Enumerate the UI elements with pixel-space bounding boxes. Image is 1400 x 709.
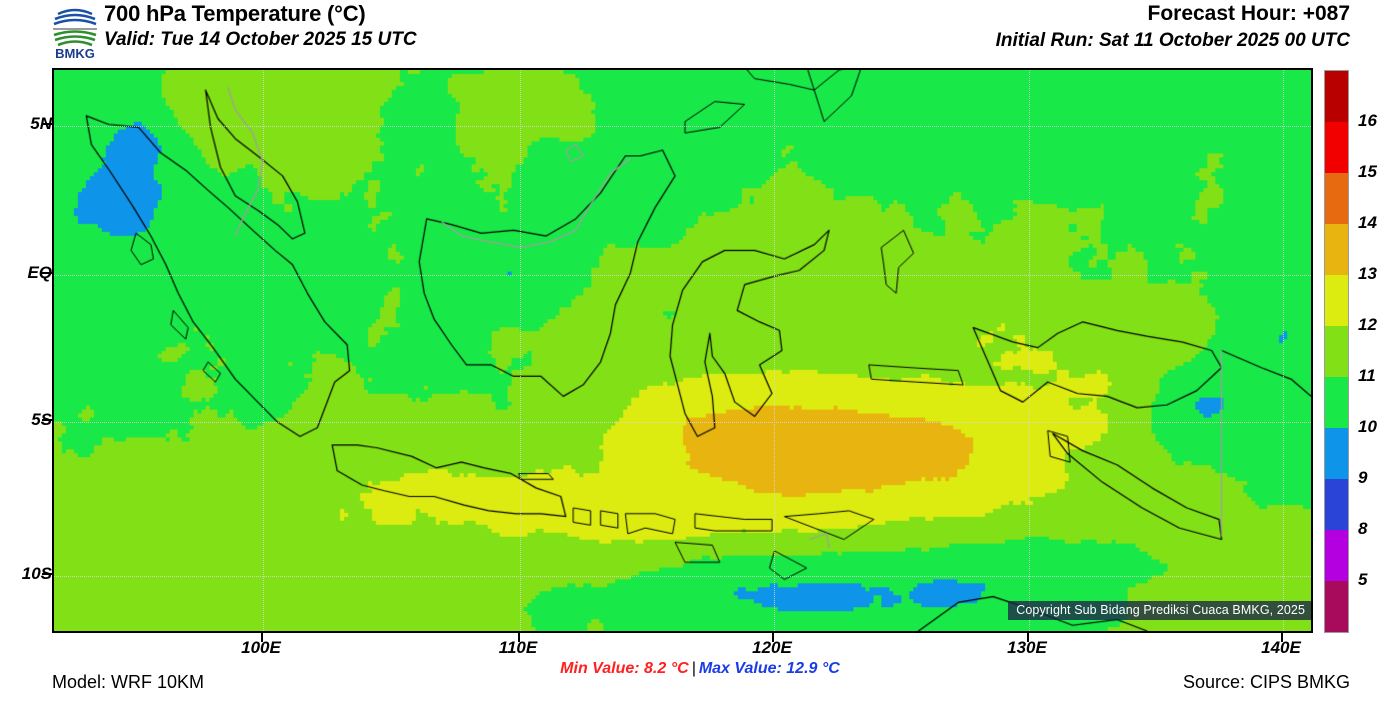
lon-tick-100e [261, 633, 263, 642]
lat-tick-5s [42, 419, 52, 421]
colorbar-label-14: 14 [1358, 213, 1377, 233]
min-max-separator: | [689, 660, 699, 677]
min-max-values: Min Value: 8.2 °C|Max Value: 12.9 °C [0, 660, 1400, 678]
colorbar-band-0 [1325, 71, 1348, 122]
lat-tick-10s [42, 573, 52, 575]
colorbar-label-11: 11 [1358, 366, 1376, 386]
colorbar-band-9 [1325, 530, 1348, 581]
temperature-map[interactable]: Copyright Sub Bidang Prediksi Cuaca BMKG… [52, 68, 1313, 633]
temperature-field-canvas [54, 70, 1311, 631]
initial-run-label: Initial Run: Sat 11 October 2025 00 UTC [996, 30, 1350, 52]
colorbar-band-8 [1325, 479, 1348, 530]
max-value-label: Max Value: 12.9 °C [699, 660, 840, 677]
colorbar-label-12: 12 [1358, 315, 1377, 335]
lon-tick-130e [1027, 633, 1029, 642]
temperature-colorbar [1324, 70, 1349, 633]
lat-tick-eq [42, 272, 52, 274]
bmkg-logo-icon: BMKG [46, 2, 104, 60]
colorbar-label-13: 13 [1358, 264, 1377, 284]
colorbar-label-5: 5 [1358, 570, 1367, 590]
forecast-hour-label: Forecast Hour: +087 [1148, 2, 1351, 26]
colorbar-label-15: 15 [1358, 162, 1377, 182]
colorbar-label-8: 8 [1358, 519, 1367, 539]
colorbar-label-10: 10 [1358, 417, 1377, 437]
colorbar-band-7 [1325, 428, 1348, 479]
lat-tick-5n [42, 123, 52, 125]
header: BMKG 700 hPa Temperature (°C) Valid: Tue… [0, 0, 1400, 62]
lon-tick-120e [772, 633, 774, 642]
colorbar-band-3 [1325, 224, 1348, 275]
colorbar-band-10 [1325, 581, 1348, 632]
colorbar-band-1 [1325, 122, 1348, 173]
valid-time-label: Valid: Tue 14 October 2025 15 UTC [104, 29, 417, 51]
colorbar-band-6 [1325, 377, 1348, 428]
lon-tick-110e [518, 633, 520, 642]
colorbar-band-4 [1325, 275, 1348, 326]
svg-text:BMKG: BMKG [55, 46, 95, 60]
colorbar-label-9: 9 [1358, 468, 1367, 488]
page-title: 700 hPa Temperature (°C) [104, 1, 366, 27]
bmkg-logo: BMKG [46, 2, 104, 60]
lon-tick-140e [1281, 633, 1283, 642]
min-value-label: Min Value: 8.2 °C [560, 660, 689, 677]
colorbar-band-5 [1325, 326, 1348, 377]
colorbar-label-16: 16 [1358, 111, 1377, 131]
copyright-watermark: Copyright Sub Bidang Prediksi Cuaca BMKG… [1008, 601, 1311, 620]
colorbar-band-2 [1325, 173, 1348, 224]
